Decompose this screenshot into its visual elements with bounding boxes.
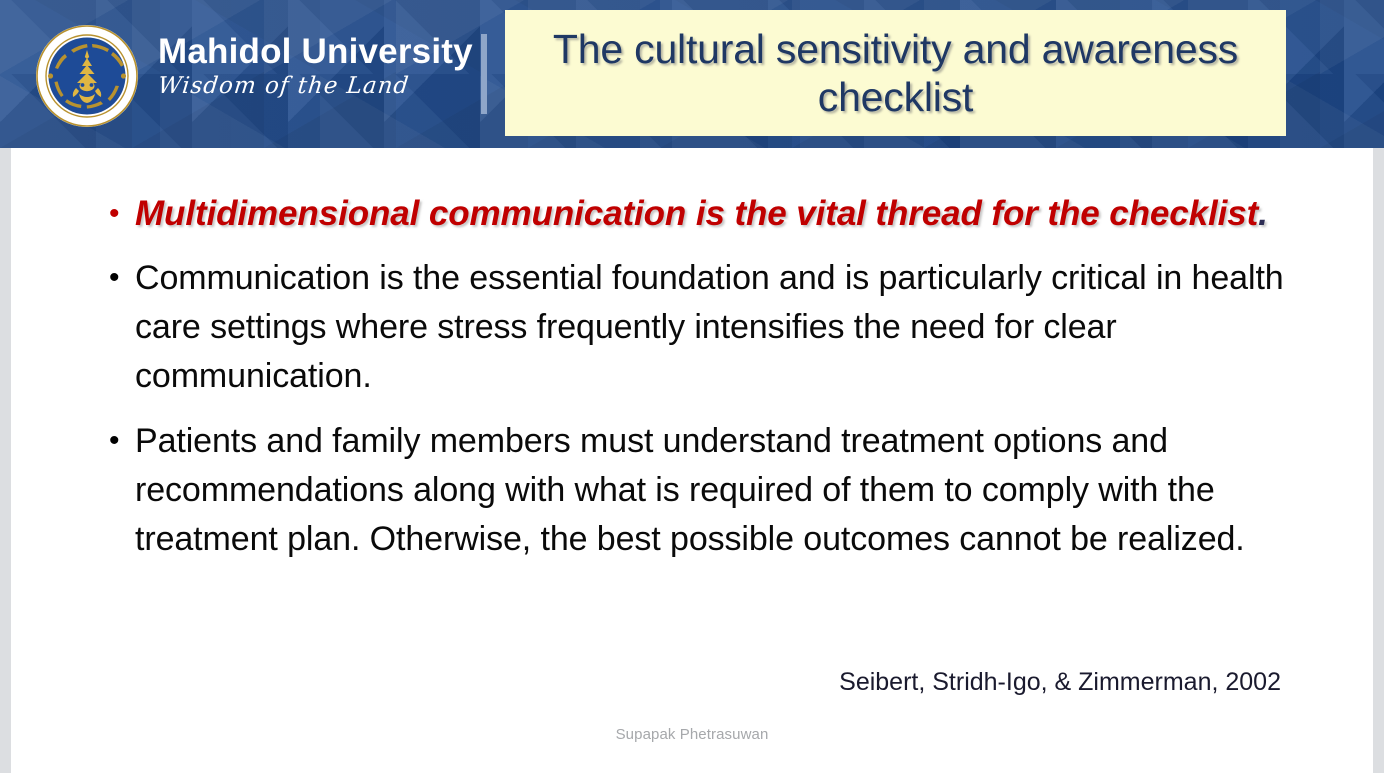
slide-body: • Multidimensional communication is the … (11, 148, 1373, 773)
list-item: • Communication is the essential foundat… (109, 254, 1299, 401)
slide: Mahidol University Wisdom of the Land Th… (0, 0, 1384, 773)
list-item-text-main: Multidimensional communication is the vi… (135, 194, 1258, 233)
citation-reference: Seibert, Stridh-Igo, & Zimmerman, 2002 (109, 668, 1281, 697)
list-item: • Patients and family members must under… (109, 417, 1299, 564)
bullet-marker-icon: • (109, 417, 135, 465)
brand-name: Mahidol University (158, 32, 473, 71)
title-banner: The cultural sensitivity and awareness c… (505, 10, 1286, 136)
bullet-marker-icon: • (109, 254, 135, 302)
left-edge-strip (0, 148, 11, 773)
list-item-text: Patients and family members must underst… (135, 417, 1299, 564)
brand-block: Mahidol University Wisdom of the Land (158, 32, 473, 99)
list-item-text: Communication is the essential foundatio… (135, 254, 1299, 401)
brand-tagline: Wisdom of the Land (157, 73, 475, 99)
footer-author: Supapak Phetrasuwan (11, 726, 1373, 743)
mahidol-university-seal-icon (35, 24, 139, 128)
slide-header: Mahidol University Wisdom of the Land Th… (0, 0, 1384, 148)
bullet-list: • Multidimensional communication is the … (109, 188, 1299, 580)
list-item-period: . (1258, 194, 1268, 233)
right-edge-strip (1373, 148, 1384, 773)
vertical-divider-icon (481, 34, 487, 114)
page-title: The cultural sensitivity and awareness c… (505, 25, 1286, 122)
list-item-text: Multidimensional communication is the vi… (135, 188, 1299, 240)
list-item: • Multidimensional communication is the … (109, 188, 1299, 240)
bullet-marker-icon: • (109, 188, 135, 240)
